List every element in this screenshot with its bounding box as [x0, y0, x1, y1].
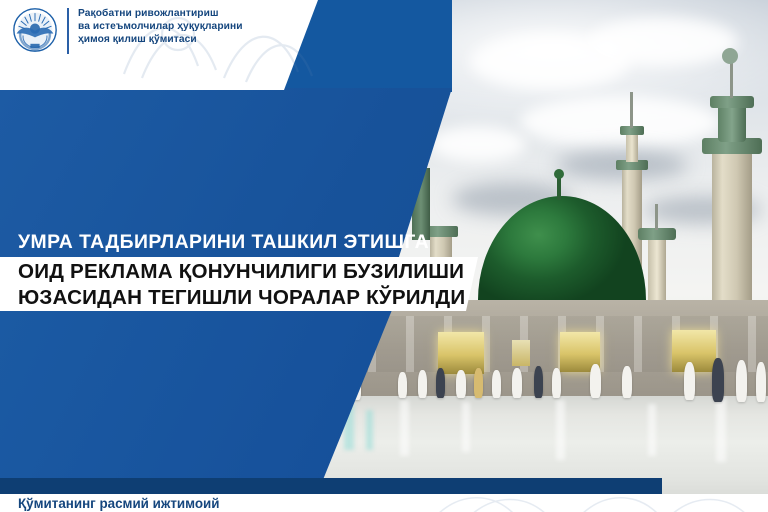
footer-text: Қўмитанинг расмий ижтимоий	[18, 496, 220, 511]
pilgrim	[622, 366, 632, 398]
cloud	[430, 126, 526, 162]
floor-reflection	[556, 400, 565, 460]
headline-line-3: ЮЗАСИДАН ТЕГИШЛИ ЧОРАЛАР КЎРИЛДИ	[18, 285, 465, 311]
floor-reflection	[648, 404, 656, 456]
pilgrim	[512, 368, 522, 398]
minaret-shaft	[626, 134, 638, 162]
pilgrim	[398, 372, 407, 398]
pilgrim	[418, 370, 427, 398]
pilgrim	[590, 364, 601, 398]
pilgrim	[436, 368, 445, 398]
headline-line-2: ОИД РЕКЛАМА ҚОНУНЧИЛИГИ БУЗИЛИШИ	[18, 259, 465, 285]
dome-finial	[557, 174, 561, 200]
pilgrim	[684, 362, 695, 400]
pilgrim	[736, 360, 747, 402]
pilgrim	[474, 368, 483, 398]
organization-line-2: ва истеъмолчилар ҳуқуқларини	[78, 20, 243, 33]
footer-watermark	[430, 494, 768, 512]
pilgrim	[456, 370, 466, 398]
minaret-lantern	[718, 104, 746, 142]
header-content: Рақобатни ривожлантириш ва истеъмолчилар…	[0, 0, 318, 90]
floor-reflection	[462, 402, 470, 452]
news-poster: Рақобатни ривожлантириш ва истеъмолчилар…	[0, 0, 768, 512]
organization-line-3: ҳимоя қилиш қўмитаси	[78, 33, 243, 46]
pilgrim	[534, 366, 543, 398]
floor-reflection	[366, 410, 373, 450]
headline-body: ОИД РЕКЛАМА ҚОНУНЧИЛИГИ БУЗИЛИШИ ЮЗАСИДА…	[18, 259, 465, 310]
header-divider	[67, 8, 69, 54]
floor-reflection	[716, 398, 726, 462]
minaret-spire	[730, 58, 733, 98]
minaret-orb	[722, 48, 738, 64]
footer-bar: Қўмитанинг расмий ижтимоий	[0, 494, 768, 512]
illuminated-doorway	[672, 330, 716, 372]
organization-line-1: Рақобатни ривожлантириш	[78, 7, 243, 20]
lantern-spire	[655, 204, 658, 230]
headline-line-1: УМРА ТАДБИРЛАРИНИ ТАШКИЛ ЭТИШГА	[18, 231, 429, 254]
illuminated-panel	[512, 340, 530, 366]
organization-name: Рақобатни ривожлантириш ва истеъмолчилар…	[78, 7, 243, 47]
pilgrim	[492, 370, 501, 398]
uzbekistan-state-emblem-icon	[12, 7, 58, 53]
navy-footer-bar	[0, 478, 662, 494]
floor-reflection	[400, 400, 409, 456]
pilgrim	[552, 368, 561, 398]
pilgrim	[756, 362, 766, 402]
pilgrim	[712, 358, 724, 402]
cloud	[588, 18, 738, 66]
cloud	[520, 96, 720, 148]
minaret-spire	[630, 92, 633, 128]
